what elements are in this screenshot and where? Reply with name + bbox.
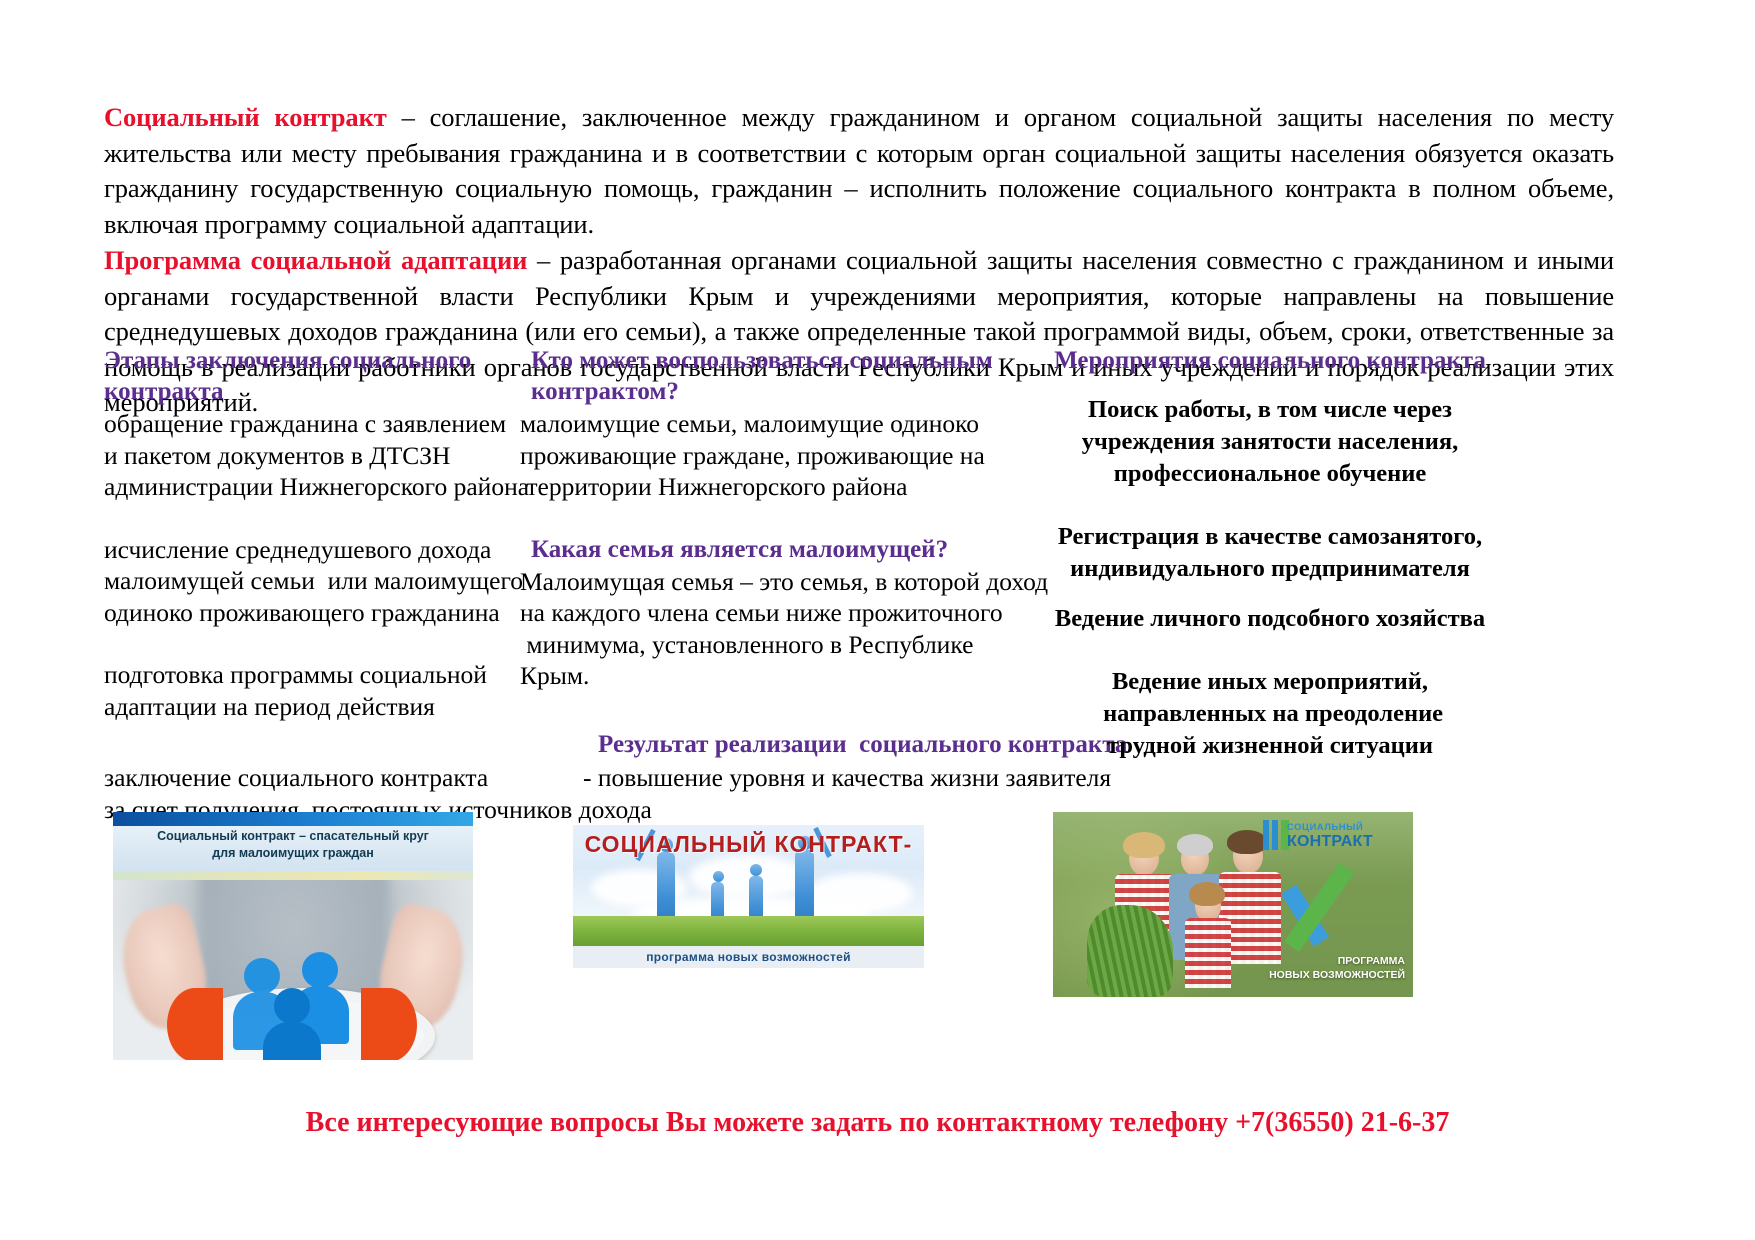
logo-bars-icon — [1263, 820, 1289, 850]
logo-plate-line-1: ПРОГРАММА — [1257, 954, 1405, 968]
social-contract-lifering-image: Социальный контракт – спасательный круг … — [113, 812, 473, 1060]
stage-item-3: подготовка программы социальной адаптаци… — [104, 659, 534, 722]
eligibility-heading-line-1: Кто может воспользоваться социальным — [531, 347, 993, 374]
low-income-answer-line-4: Крым. — [520, 660, 1030, 692]
measure-item-2-line-1: Регистрация в качестве самозанятого, — [1035, 521, 1505, 553]
stage-item-3-line-2: адаптации на период действия — [104, 691, 534, 723]
eligibility-heading-line-2: контрактом? — [531, 378, 679, 405]
stage-item-2-line-2: малоимущей семьи или малоимущего — [104, 565, 534, 597]
family-title: СОЦИАЛЬНЫЙ КОНТРАКТ- — [573, 831, 924, 858]
social-contract-program-photo-image: СОЦИАЛЬНЫЙ КОНТРАКТ ПРОГРАММА НОВЫХ ВОЗМ… — [1053, 812, 1413, 997]
logo-brand-line-1: СОЦИАЛЬНЫЙ — [1287, 822, 1405, 833]
people-shirt-child — [1185, 918, 1231, 988]
people-hair-child — [1189, 882, 1225, 906]
eligibility-answer: малоимущие семьи, малоимущие одиноко про… — [520, 408, 1030, 503]
measure-item-3-line-1: Ведение личного подсобного хозяйства — [1035, 603, 1505, 635]
stage-item-1-line-3: администрации Нижнегорского района — [104, 471, 534, 503]
logo-brand: СОЦИАЛЬНЫЙ КОНТРАКТ — [1287, 822, 1405, 851]
lifering-caption-line-1: Социальный контракт – спасательный круг — [113, 828, 473, 845]
lifering-caption-line-2: для малоимущих граждан — [113, 845, 473, 862]
measure-item-4-line-3: трудной жизненной ситуации — [1035, 730, 1505, 762]
stage-item-3-line-1: подготовка программы социальной — [104, 659, 534, 691]
lifering-figure-3 — [263, 988, 321, 1060]
column-stages-heading: Этапы заключения социального контракта — [104, 345, 534, 407]
eligibility-heading: Кто может воспользоваться социальным кон… — [520, 345, 1030, 407]
stage-item-1-line-2: и пакетом документов в ДТСЗН — [104, 440, 534, 472]
eligibility-answer-line-2: проживающие граждане, проживающие на — [520, 440, 1030, 472]
leaflet-page: Социальный контракт – соглашение, заключ… — [0, 0, 1755, 1240]
intro-lead-1: Социальный контракт — [104, 102, 387, 132]
measure-item-1-line-3: профессиональное обучение — [1035, 458, 1505, 490]
measures-heading-text: Мероприятия социального контракта — [1054, 347, 1486, 374]
result-answer: - повышение уровня и качества жизни заяв… — [583, 762, 1111, 794]
lifering-ring-segment-left — [167, 988, 223, 1060]
family-bottom-caption: программа новых возможностей — [573, 946, 924, 968]
measures-heading: Мероприятия социального контракта — [1035, 345, 1505, 376]
contact-footer: Все интересующие вопросы Вы можете задат… — [0, 1106, 1755, 1140]
eligibility-answer-line-1: малоимущие семьи, малоимущие одиноко — [520, 408, 1030, 440]
intro-paragraph-1: Социальный контракт – соглашение, заключ… — [104, 100, 1614, 242]
measure-item-4-line-1: Ведение иных мероприятий, — [1035, 666, 1505, 698]
intro-lead-2: Программа социальной адаптации — [104, 245, 527, 275]
column-stages-heading-line-2: контракта — [104, 378, 223, 405]
stage-item-1: обращение гражданина с заявлением и паке… — [104, 408, 534, 503]
measure-item-3: Ведение личного подсобного хозяйства — [1035, 603, 1505, 635]
family-grass — [573, 916, 924, 948]
stage-item-4-line-1: заключение социального контракта — [104, 762, 652, 794]
measure-item-1: Поиск работы, в том числе через учрежден… — [1035, 394, 1505, 490]
logo-plate-line-2: НОВЫХ ВОЗМОЖНОСТЕЙ — [1257, 968, 1405, 982]
social-contract-family-silhouette-image: СОЦИАЛЬНЫЙ КОНТРАКТ- программа новых воз… — [573, 825, 924, 968]
logo-brand-line-2: КОНТРАКТ — [1287, 833, 1405, 851]
eligibility-answer-line-3: территории Нижнегорского района — [520, 471, 1030, 503]
stage-item-2: исчисление среднедушевого дохода малоиму… — [104, 534, 534, 629]
logo-checkmark-icon — [1265, 868, 1405, 954]
column-stages: Этапы заключения социального контракта о… — [104, 345, 534, 722]
measure-item-4: Ведение иных мероприятий, направленных н… — [1035, 666, 1505, 762]
low-income-heading: Какая семья является малоимущей? — [520, 534, 1030, 565]
measure-item-2: Регистрация в качестве самозанятого, инд… — [1035, 521, 1505, 585]
stage-item-2-line-1: исчисление среднедушевого дохода — [104, 534, 534, 566]
column-measures: Мероприятия социального контракта Поиск … — [1035, 345, 1505, 762]
people-hair-2 — [1177, 834, 1213, 856]
measure-item-2-line-2: индивидуального предпринимателя — [1035, 553, 1505, 585]
people-hat-1 — [1123, 832, 1165, 858]
stage-item-1-line-1: обращение гражданина с заявлением — [104, 408, 534, 440]
measure-item-1-line-2: учреждения занятости населения, — [1035, 426, 1505, 458]
lifering-ring-segment-right — [361, 988, 417, 1060]
stage-item-2-line-3: одиноко проживающего гражданина — [104, 597, 534, 629]
low-income-answer-line-3: минимума, установленного в Республике — [520, 629, 1030, 661]
measure-item-4-line-2: направленных на преодоление — [1035, 698, 1505, 730]
logo-plate: ПРОГРАММА НОВЫХ ВОЗМОЖНОСТЕЙ — [1257, 954, 1409, 988]
lifering-caption: Социальный контракт – спасательный круг … — [113, 828, 473, 862]
low-income-answer-line-2: на каждого члена семьи ниже прожиточного — [520, 597, 1030, 629]
measure-item-1-line-1: Поиск работы, в том числе через — [1035, 394, 1505, 426]
low-income-answer: Малоимущая семья – это семья, в которой … — [520, 566, 1030, 692]
program-logo: СОЦИАЛЬНЫЙ КОНТРАКТ ПРОГРАММА НОВЫХ ВОЗМ… — [1257, 816, 1409, 992]
people-vegetables — [1087, 905, 1173, 997]
lifering-top-bar — [113, 812, 473, 826]
low-income-answer-line-1: Малоимущая семья – это семья, в которой … — [520, 566, 1030, 598]
column-eligibility: Кто может воспользоваться социальным кон… — [520, 345, 1030, 692]
low-income-heading-text: Какая семья является малоимущей? — [531, 536, 948, 563]
column-stages-heading-line-1: Этапы заключения социального — [104, 347, 471, 374]
